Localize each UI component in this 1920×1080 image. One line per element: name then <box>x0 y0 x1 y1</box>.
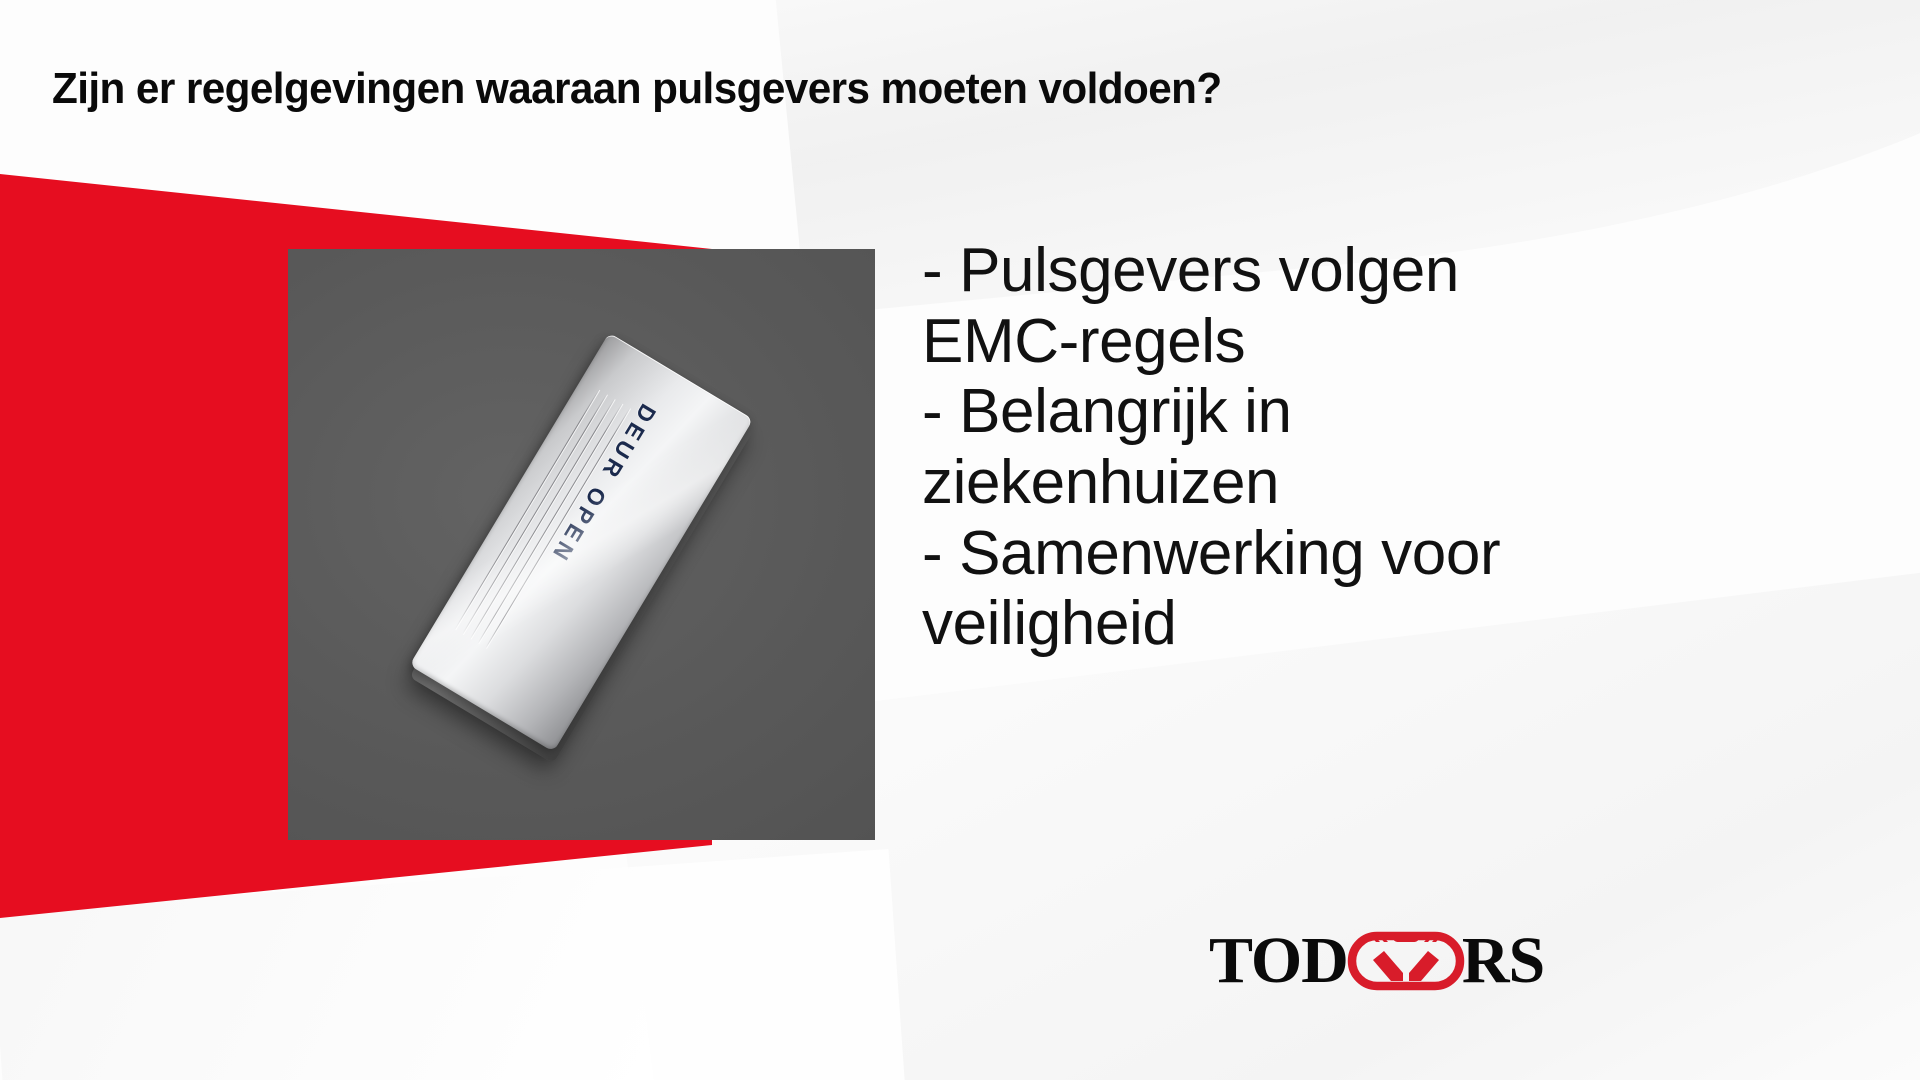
product-photo: DEUR OPEN <box>288 249 875 840</box>
slide-canvas: Zijn er regelgevingen waaraan pulsgevers… <box>0 0 1920 1080</box>
bullet-line: EMC-regels <box>922 307 1882 378</box>
logo-text-left: TOD <box>1209 928 1348 994</box>
bullet-line: veiligheid <box>922 589 1882 660</box>
bullet-line: - Pulsgevers volgen <box>922 236 1882 307</box>
sliding-doors-mark-icon <box>1346 929 1466 993</box>
bullet-list: - Pulsgevers volgen EMC-regels - Belangr… <box>922 236 1882 660</box>
brand-logo: TOD RS <box>1209 925 1544 997</box>
bullet-line: - Belangrijk in <box>922 377 1882 448</box>
bullet-line: - Samenwerking voor <box>922 519 1882 590</box>
page-title: Zijn er regelgevingen waaraan pulsgevers… <box>52 65 1799 113</box>
logo-text-right: RS <box>1462 928 1544 994</box>
bullet-line: ziekenhuizen <box>922 448 1882 519</box>
